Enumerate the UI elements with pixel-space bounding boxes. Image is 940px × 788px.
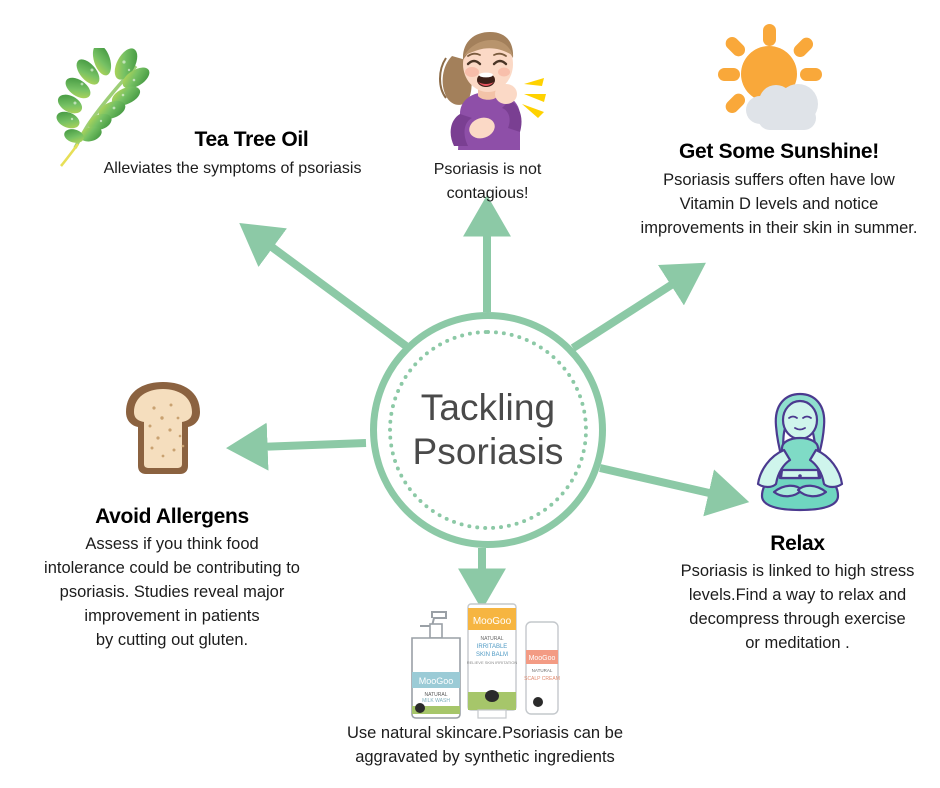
svg-text:MooGoo: MooGoo bbox=[473, 616, 512, 627]
sunshine-heading: Get Some Sunshine! bbox=[618, 140, 940, 164]
arrow-to-sunshine bbox=[573, 280, 679, 348]
svg-text:RELIEVE SKIN IRRITATION: RELIEVE SKIN IRRITATION bbox=[467, 660, 518, 665]
node-tea-tree-oil: Tea Tree Oil Alleviates the symptoms of … bbox=[40, 128, 385, 179]
sneezing-woman-icon bbox=[424, 22, 548, 155]
tea-tree-oil-body: Alleviates the symptoms of psoriasis bbox=[80, 159, 385, 179]
infographic-canvas: Tackling Psoriasis bbox=[0, 0, 940, 788]
node-natural-skincare: Use natural skincare.Psoriasis can be ag… bbox=[320, 722, 650, 770]
arrow-to-relax bbox=[600, 468, 718, 495]
svg-text:SKIN BALM: SKIN BALM bbox=[476, 652, 508, 658]
node-avoid-allergens: Avoid Allergens Assess if you think food… bbox=[22, 505, 322, 653]
svg-text:MooGoo: MooGoo bbox=[529, 655, 556, 662]
svg-text:NATURAL: NATURAL bbox=[532, 668, 553, 673]
not-contagious-body: Psoriasis is not contagious! bbox=[395, 158, 580, 206]
skincare-products-icon: MooGoo NATURAL MILK WASH MooGoo NATURAL … bbox=[398, 598, 570, 727]
node-get-some-sunshine: Get Some Sunshine! Psoriasis suffers oft… bbox=[618, 140, 940, 241]
allergens-body: Assess if you think food intolerance cou… bbox=[22, 533, 322, 653]
svg-text:IRRITABLE: IRRITABLE bbox=[477, 644, 508, 650]
arrow-to-allergens bbox=[258, 443, 366, 447]
node-not-contagious: Psoriasis is not contagious! bbox=[395, 158, 580, 206]
skincare-body: Use natural skincare.Psoriasis can be ag… bbox=[320, 722, 650, 770]
svg-text:MooGoo: MooGoo bbox=[419, 676, 454, 686]
relax-body: Psoriasis is linked to high stress level… bbox=[655, 560, 940, 656]
sunshine-body: Psoriasis suffers often have low Vitamin… bbox=[618, 169, 940, 241]
arrow-to-tea-tree-oil bbox=[265, 242, 406, 346]
meditating-woman-icon bbox=[744, 388, 856, 521]
relax-heading: Relax bbox=[655, 532, 940, 556]
bread-slice-icon bbox=[116, 378, 210, 483]
svg-text:MILK WASH: MILK WASH bbox=[422, 698, 450, 704]
allergens-heading: Avoid Allergens bbox=[22, 505, 322, 529]
center-hub: Tackling Psoriasis bbox=[370, 312, 606, 548]
tea-tree-oil-heading: Tea Tree Oil bbox=[118, 128, 385, 152]
node-relax: Relax Psoriasis is linked to high stress… bbox=[655, 532, 940, 656]
svg-text:NATURAL: NATURAL bbox=[481, 636, 504, 642]
svg-text:SCALP CREAM: SCALP CREAM bbox=[524, 676, 560, 682]
hub-title: Tackling Psoriasis bbox=[413, 386, 564, 473]
sun-behind-cloud-icon bbox=[714, 22, 834, 145]
